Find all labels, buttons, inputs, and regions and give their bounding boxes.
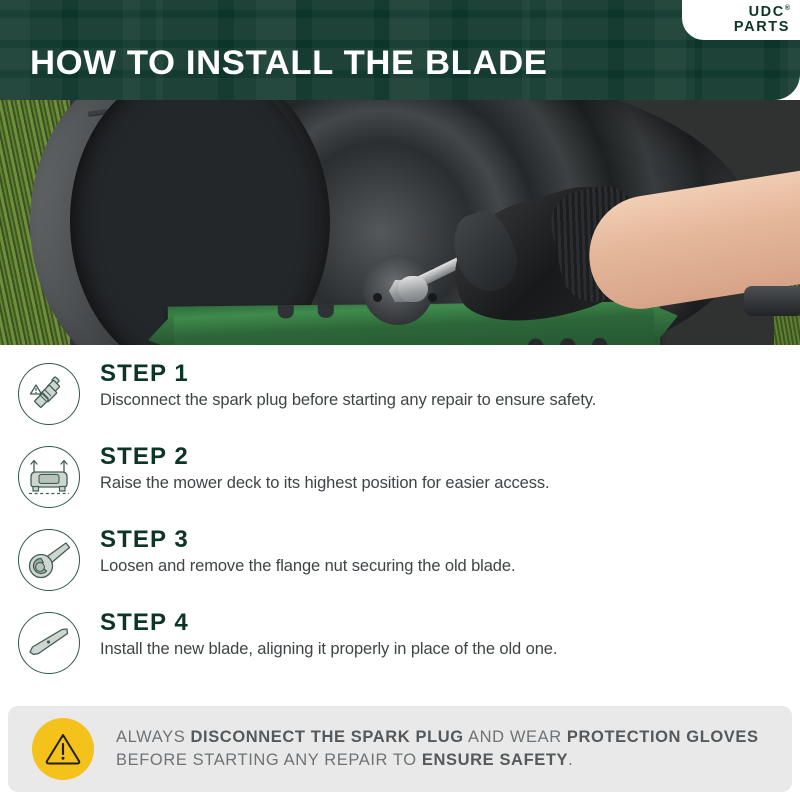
- deck-rib: [88, 194, 158, 198]
- step-title-4: STEP 4: [100, 610, 557, 635]
- warning-plain: AND WEAR: [464, 728, 567, 746]
- step-icon-circle-2: [18, 446, 80, 508]
- warning-emphasis: DISCONNECT THE SPARK PLUG: [191, 728, 464, 746]
- step-item-2: STEP 2 Raise the mower deck to its highe…: [0, 440, 800, 523]
- brand-logo: UDC® PARTS: [690, 5, 790, 35]
- safety-warning-text: ALWAYS DISCONNECT THE SPARK PLUG AND WEA…: [94, 726, 774, 772]
- hub-hole: [373, 293, 382, 302]
- step-text-4: STEP 4 Install the new blade, aligning i…: [80, 606, 557, 659]
- warning-mini-icon: [31, 385, 42, 394]
- infographic-page: UDC® PARTS HOW TO INSTALL THE BLADE: [0, 0, 800, 800]
- step-title-1: STEP 1: [100, 361, 596, 386]
- warning-plain: ALWAYS: [116, 728, 191, 746]
- deck-rib: [90, 261, 156, 275]
- brand-logo-line1: UDC®: [690, 5, 790, 20]
- brand-logo-udc: UDC: [749, 4, 785, 20]
- step-icon-circle-1: [18, 363, 80, 425]
- step-desc-2: Raise the mower deck to its highest posi…: [100, 474, 550, 493]
- step-item-1: STEP 1 Disconnect the spark plug before …: [0, 357, 800, 440]
- deck-shaft: [744, 286, 800, 316]
- warning-emphasis: PROTECTION GLOVES: [567, 728, 759, 746]
- safety-warning-bar: ALWAYS DISCONNECT THE SPARK PLUG AND WEA…: [8, 706, 792, 792]
- wrench-head: [398, 276, 428, 302]
- step-title-2: STEP 2: [100, 444, 550, 469]
- deck-rib: [127, 100, 131, 148]
- step-title-3: STEP 3: [100, 527, 515, 552]
- step-text-1: STEP 1 Disconnect the spark plug before …: [80, 357, 596, 410]
- step-desc-4: Install the new blade, aligning it prope…: [100, 640, 557, 659]
- blade-notch: [278, 305, 294, 318]
- brand-logo-parts: PARTS: [690, 20, 790, 35]
- deck-rib: [126, 198, 130, 262]
- step-desc-3: Loosen and remove the flange nut securin…: [100, 557, 515, 576]
- blade-notch: [318, 305, 334, 318]
- blade-notch: [560, 338, 575, 345]
- warning-triangle-icon: [43, 730, 83, 768]
- step-icon-circle-4: [18, 612, 80, 674]
- step-item-3: STEP 3 Loosen and remove the flange nut …: [0, 523, 800, 606]
- step-icon-circle-3: [18, 529, 80, 591]
- header-banner: UDC® PARTS HOW TO INSTALL THE BLADE: [0, 0, 800, 100]
- step-text-3: STEP 3 Loosen and remove the flange nut …: [80, 523, 515, 576]
- wrench-icon: [26, 538, 72, 582]
- hub-hole: [428, 293, 437, 302]
- step-item-4: STEP 4 Install the new blade, aligning i…: [0, 606, 800, 689]
- hero-photo: [0, 100, 800, 345]
- warning-plain: BEFORE STARTING ANY REPAIR TO: [116, 751, 422, 769]
- warning-badge: [32, 718, 94, 780]
- registered-trademark-icon: ®: [785, 5, 790, 12]
- mower-deck-raise-icon: [26, 455, 72, 499]
- page-title: HOW TO INSTALL THE BLADE: [30, 44, 548, 83]
- step-desc-1: Disconnect the spark plug before startin…: [100, 391, 596, 410]
- warning-plain: .: [568, 751, 573, 769]
- blade-notch: [592, 338, 607, 345]
- deck-rib: [88, 102, 156, 115]
- mower-blade-icon: [26, 621, 72, 665]
- spark-plug-icon: [27, 372, 71, 416]
- step-text-2: STEP 2 Raise the mower deck to its highe…: [80, 440, 550, 493]
- warning-emphasis: ENSURE SAFETY: [422, 751, 568, 769]
- steps-list: STEP 1 Disconnect the spark plug before …: [0, 345, 800, 689]
